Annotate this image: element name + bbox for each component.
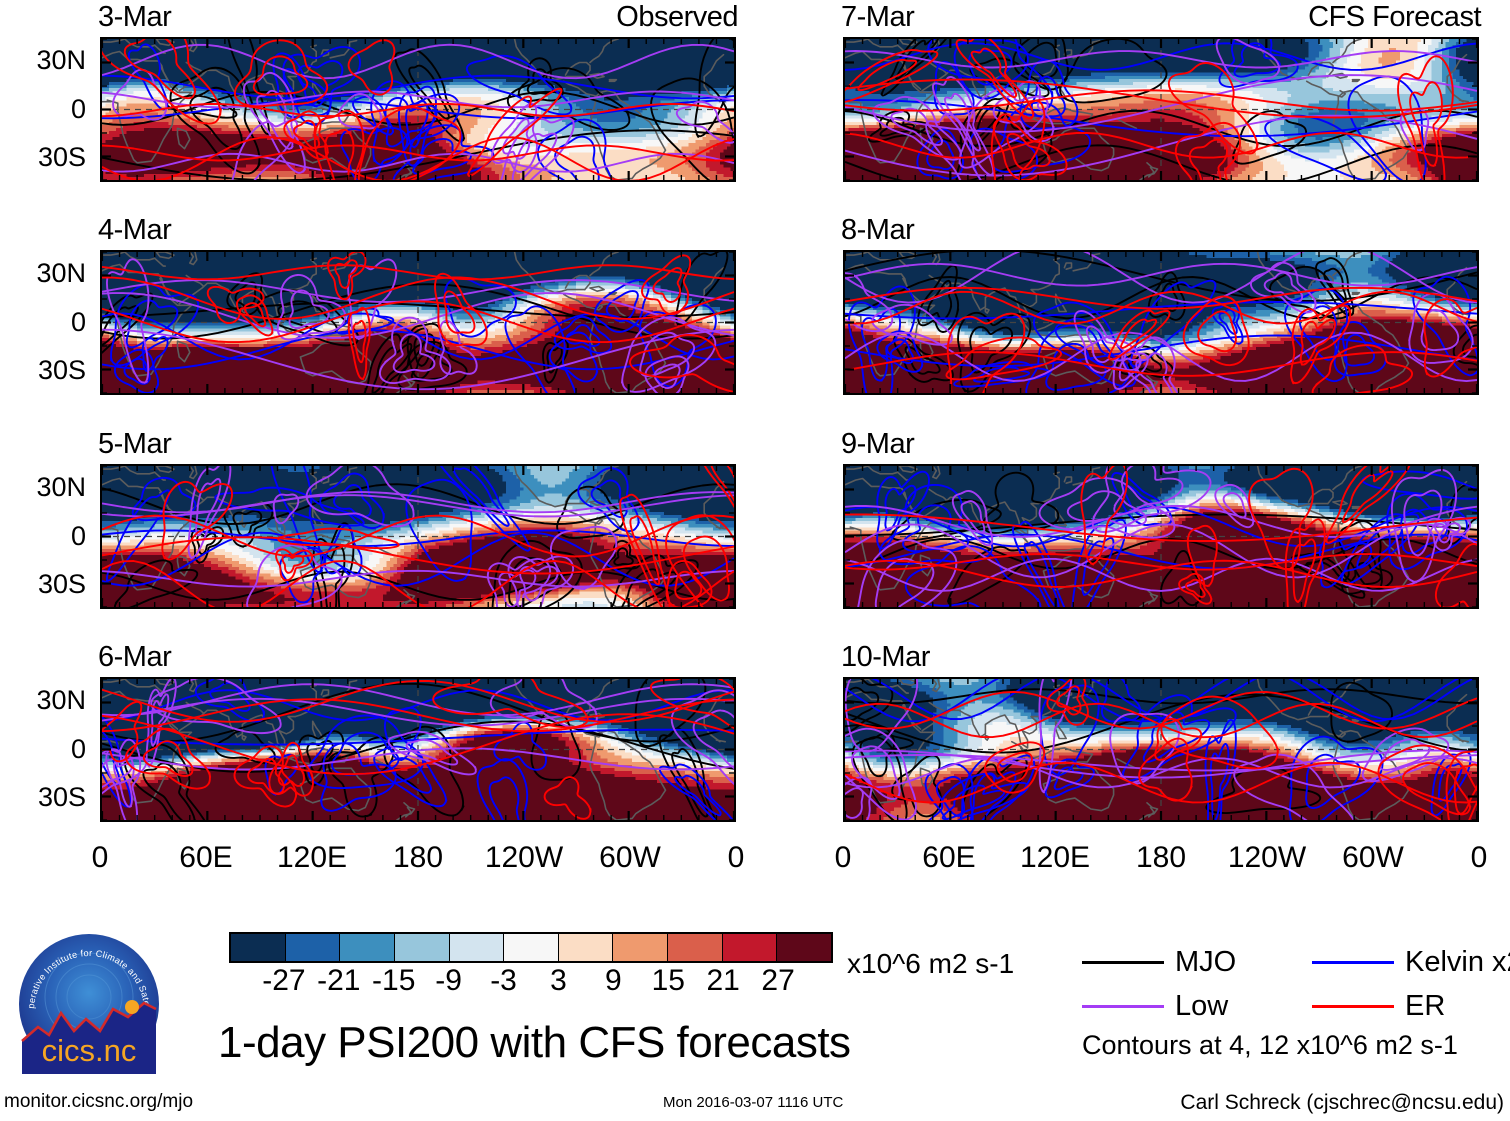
x-tick-label: 60W xyxy=(570,843,690,873)
panel-date-label: 9-Mar xyxy=(841,430,914,459)
colorbar-swatch xyxy=(723,934,778,961)
map-plot-area[interactable] xyxy=(843,37,1479,182)
legend-item-er: ER xyxy=(1312,992,1445,1021)
x-tick-label: 0 xyxy=(1419,843,1510,873)
legend-line-swatch xyxy=(1082,961,1164,964)
legend-label: Low xyxy=(1175,992,1228,1021)
y-tick-label: 30N xyxy=(0,260,86,287)
contour-note: Contours at 4, 12 x10^6 m2 s-1 xyxy=(1082,1032,1458,1059)
legend-label: Kelvin x2 xyxy=(1405,948,1510,977)
y-tick-label: 30S xyxy=(0,357,86,384)
x-tick-label: 120E xyxy=(995,843,1115,873)
colorbar-swatch xyxy=(340,934,395,961)
colorbar-swatch xyxy=(668,934,723,961)
panel-date-label: 7-Mar xyxy=(841,3,914,32)
map-plot-area[interactable] xyxy=(843,677,1479,822)
legend-item-kelvin-x2: Kelvin x2 xyxy=(1312,948,1510,977)
x-tick-label: 0 xyxy=(676,843,796,873)
footer-timestamp: Mon 2016-03-07 1116 UTC xyxy=(663,1095,843,1110)
legend-item-low: Low xyxy=(1082,992,1228,1021)
panel-date-label: 4-Mar xyxy=(98,216,171,245)
y-tick-label: 0 xyxy=(0,523,86,550)
map-plot-area[interactable] xyxy=(100,677,736,822)
colorbar-tick-label: -21 xyxy=(317,966,360,996)
map-plot-area[interactable] xyxy=(100,464,736,609)
colorbar-swatch xyxy=(395,934,450,961)
colorbar-swatch xyxy=(286,934,341,961)
x-tick-label: 180 xyxy=(1101,843,1221,873)
map-plot-area[interactable] xyxy=(100,250,736,395)
legend-item-mjo: MJO xyxy=(1082,948,1236,977)
x-tick-label: 0 xyxy=(40,843,160,873)
x-tick-label: 120W xyxy=(1207,843,1327,873)
colorbar-swatch xyxy=(450,934,505,961)
map-plot-area[interactable] xyxy=(100,37,736,182)
logo-name: cics.nc xyxy=(42,1033,137,1068)
y-tick-label: 30S xyxy=(0,784,86,811)
y-tick-label: 0 xyxy=(0,309,86,336)
y-tick-label: 30N xyxy=(0,474,86,501)
panel-date-label: 3-Mar xyxy=(98,3,171,32)
cics-nc-logo: Cooperative Institute for Climate and Sa… xyxy=(16,931,162,1077)
y-tick-label: 0 xyxy=(0,96,86,123)
x-tick-label: 0 xyxy=(783,843,903,873)
footer-url[interactable]: monitor.cicsnc.org/mjo xyxy=(4,1092,193,1111)
panel-date-label: 8-Mar xyxy=(841,216,914,245)
column-header-observed: Observed xyxy=(616,3,738,32)
colorbar-tick-label: 27 xyxy=(761,966,794,996)
panel-date-label: 10-Mar xyxy=(841,643,930,672)
x-tick-label: 60W xyxy=(1313,843,1433,873)
colorbar xyxy=(229,932,833,963)
colorbar-tick-label: 15 xyxy=(652,966,685,996)
colorbar-tick-label: -9 xyxy=(435,966,462,996)
y-tick-label: 30S xyxy=(0,144,86,171)
x-tick-label: 60E xyxy=(146,843,266,873)
y-tick-label: 30N xyxy=(0,687,86,714)
legend-line-swatch xyxy=(1312,1005,1394,1008)
colorbar-tick-label: 21 xyxy=(706,966,739,996)
colorbar-tick-label: 3 xyxy=(550,966,567,996)
legend-label: MJO xyxy=(1175,948,1236,977)
panel-date-label: 6-Mar xyxy=(98,643,171,672)
panel-date-label: 5-Mar xyxy=(98,430,171,459)
colorbar-swatch xyxy=(231,934,286,961)
y-tick-label: 0 xyxy=(0,736,86,763)
map-plot-area[interactable] xyxy=(843,464,1479,609)
colorbar-swatch xyxy=(504,934,559,961)
colorbar-swatch xyxy=(559,934,614,961)
footer-author: Carl Schreck (cjschrec@ncsu.edu) xyxy=(1180,1092,1504,1113)
x-tick-label: 60E xyxy=(889,843,1009,873)
y-tick-label: 30S xyxy=(0,571,86,598)
colorbar-tick-label: -15 xyxy=(372,966,415,996)
colorbar-tick-label: -27 xyxy=(262,966,305,996)
x-tick-label: 180 xyxy=(358,843,478,873)
colorbar-tick-label: -3 xyxy=(490,966,517,996)
colorbar-swatch xyxy=(613,934,668,961)
legend-line-swatch xyxy=(1312,961,1394,964)
colorbar-ticklabels: -27-21-15-9-339152127 xyxy=(229,966,833,1000)
column-header-cfs-forecast: CFS Forecast xyxy=(1308,3,1481,32)
colorbar-tick-label: 9 xyxy=(605,966,622,996)
colorbar-units-label: x10^6 m2 s-1 xyxy=(847,950,1014,978)
x-tick-label: 120E xyxy=(252,843,372,873)
legend-line-swatch xyxy=(1082,1005,1164,1008)
legend: MJOKelvin x2LowER xyxy=(1082,948,1502,1024)
logo-graphic: Cooperative Institute for Climate and Sa… xyxy=(16,931,162,1077)
map-plot-area[interactable] xyxy=(843,250,1479,395)
y-tick-label: 30N xyxy=(0,47,86,74)
colorbar-swatch xyxy=(777,934,831,961)
page-title: 1-day PSI200 with CFS forecasts xyxy=(218,1021,851,1065)
x-tick-label: 120W xyxy=(464,843,584,873)
legend-label: ER xyxy=(1405,992,1445,1021)
